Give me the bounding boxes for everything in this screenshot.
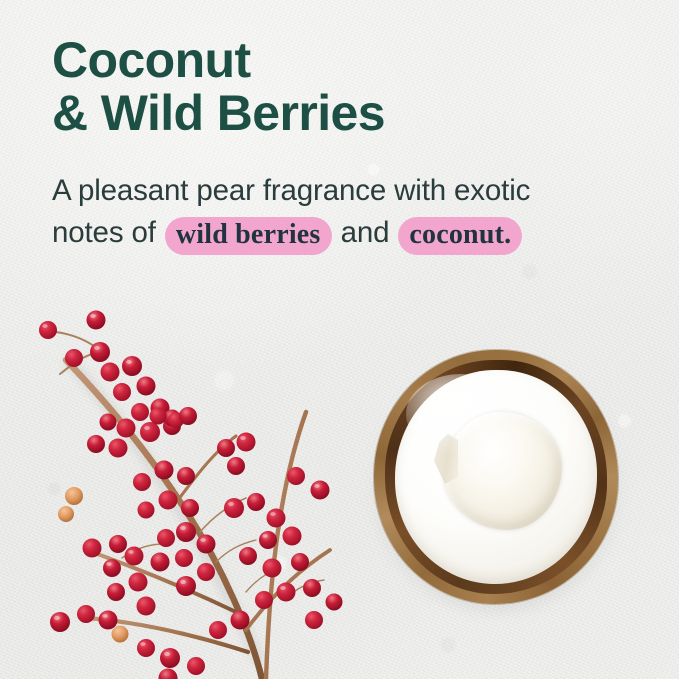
- product-description: A pleasant pear fragrance with exotic no…: [52, 140, 642, 254]
- headline-line-2: & Wild Berries: [52, 87, 642, 140]
- product-feature-card: Coconut & Wild Berries A pleasant pear f…: [0, 0, 679, 679]
- headline-line-1: Coconut: [52, 34, 642, 87]
- description-line-2-conjunction: and: [341, 216, 390, 249]
- coconut-image: [366, 344, 624, 612]
- text-block: Coconut & Wild Berries A pleasant pear f…: [52, 34, 642, 254]
- coconut-specular-highlight: [406, 374, 516, 454]
- highlight-wild-berries: wild berries: [165, 217, 332, 255]
- berry-branch-image: [0, 300, 350, 679]
- page-title: Coconut & Wild Berries: [52, 34, 642, 140]
- description-line-2: notes of wild berries and coconut.: [52, 212, 642, 254]
- description-line-2-prefix: notes of: [52, 216, 156, 249]
- berries-group: [39, 311, 343, 679]
- description-line-1: A pleasant pear fragrance with exotic: [52, 170, 642, 212]
- berry-highlights: [42, 314, 319, 656]
- highlight-coconut: coconut.: [398, 217, 522, 255]
